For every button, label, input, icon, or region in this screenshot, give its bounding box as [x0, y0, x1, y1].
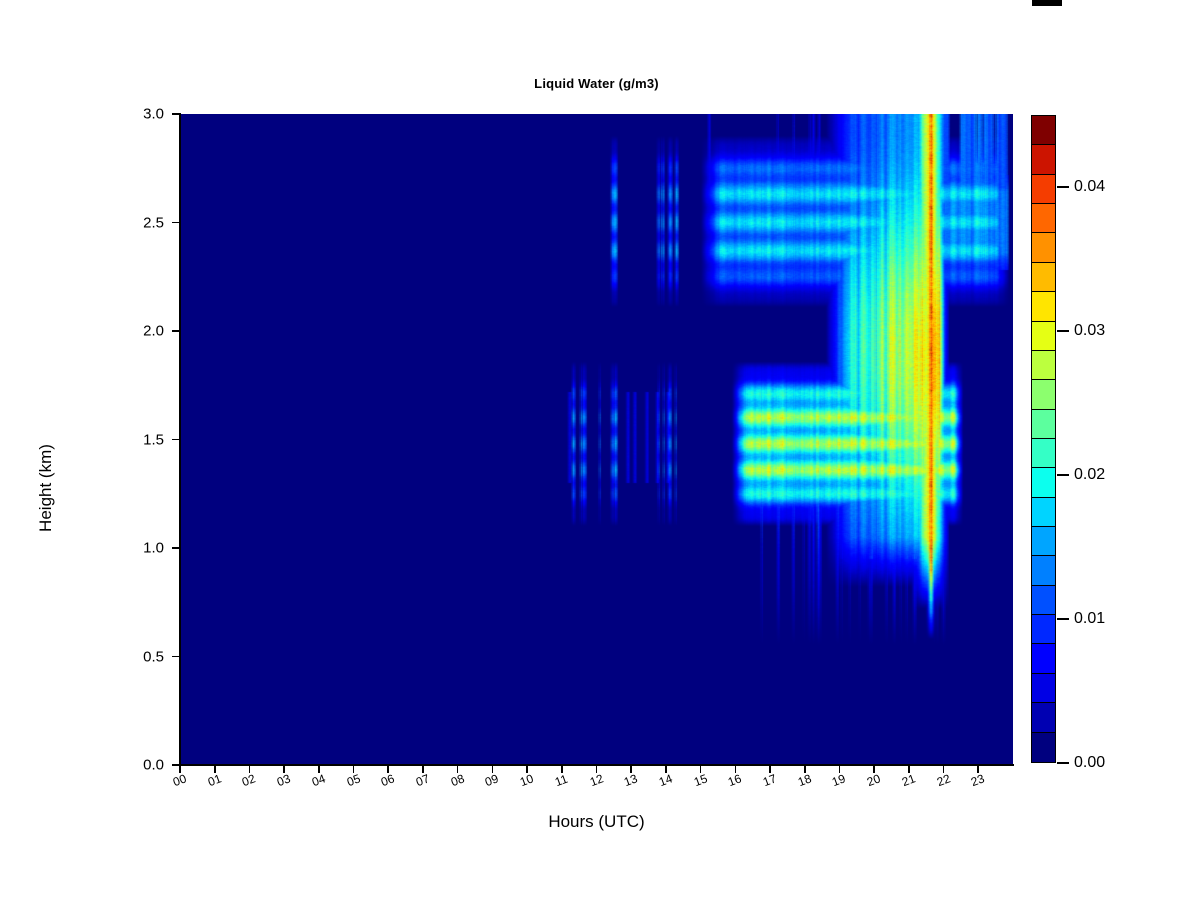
colorbar-tick: [1057, 618, 1069, 620]
y-tick-label: 0.5: [118, 648, 164, 665]
x-tick-label: 07: [414, 771, 431, 789]
colorbar-band: [1032, 410, 1055, 439]
y-tick-label: 0.0: [118, 757, 164, 774]
y-tick-label: 3.0: [118, 106, 164, 123]
x-tick-label: 17: [761, 771, 778, 789]
colorbar-band: [1032, 204, 1055, 233]
x-axis-title: Hours (UTC): [180, 812, 1013, 832]
x-tick-label: 08: [449, 771, 466, 789]
colorbar-band: [1032, 263, 1055, 292]
y-tick: [172, 222, 179, 224]
colorbar-band: [1032, 644, 1055, 673]
x-tick-label: 16: [726, 771, 743, 789]
colorbar-band: [1032, 674, 1055, 703]
y-tick: [172, 113, 179, 115]
x-tick-label: 10: [518, 771, 535, 789]
x-tick-label: 13: [622, 771, 639, 789]
y-tick: [172, 330, 179, 332]
x-tick-label: 18: [796, 771, 813, 789]
top-edge-artifact: [1032, 0, 1062, 6]
colorbar-band: [1032, 556, 1055, 585]
heatmap-canvas-wrapper: [180, 114, 1013, 765]
x-tick-label: 14: [657, 771, 674, 789]
colorbar-tick-label: 0.01: [1074, 610, 1105, 628]
x-tick-label: 11: [553, 772, 570, 789]
colorbar-band: [1032, 527, 1055, 556]
y-tick-label: 2.0: [118, 323, 164, 340]
colorbar-tick-label: 0.02: [1074, 466, 1105, 484]
x-tick-label: 00: [171, 771, 188, 789]
figure-root: Liquid Water (g/m3) 0.00.51.01.52.02.53.…: [0, 0, 1200, 900]
colorbar-tick-label: 0.04: [1074, 178, 1105, 196]
colorbar-tick: [1057, 186, 1069, 188]
colorbar-band: [1032, 322, 1055, 351]
x-tick-label: 20: [865, 771, 882, 789]
colorbar-tick: [1057, 474, 1069, 476]
y-axis-title: Height (km): [36, 408, 56, 568]
colorbar-tick: [1057, 762, 1069, 764]
colorbar-band: [1032, 439, 1055, 468]
y-axis-line: [179, 113, 181, 766]
y-tick: [172, 547, 179, 549]
colorbar-band: [1032, 468, 1055, 497]
x-tick-label: 02: [240, 771, 257, 789]
x-tick-label: 23: [969, 771, 986, 789]
x-tick-label: 05: [345, 771, 362, 789]
colorbar-tick-label: 0.03: [1074, 322, 1105, 340]
heatmap-plot-area: [180, 114, 1013, 765]
x-tick-label: 03: [275, 771, 292, 789]
x-tick-label: 19: [830, 771, 847, 789]
colorbar: [1031, 115, 1056, 763]
x-tick-label: 15: [692, 771, 709, 789]
colorbar-band: [1032, 498, 1055, 527]
y-tick-label: 1.0: [118, 540, 164, 557]
y-tick: [172, 439, 179, 441]
colorbar-band: [1032, 145, 1055, 174]
colorbar-tick-label: 0.00: [1074, 754, 1105, 772]
colorbar-band: [1032, 175, 1055, 204]
x-tick-label: 09: [483, 771, 500, 789]
colorbar-band: [1032, 703, 1055, 732]
colorbar-band: [1032, 615, 1055, 644]
colorbar-band: [1032, 233, 1055, 262]
colorbar-band: [1032, 586, 1055, 615]
x-tick-label: 21: [900, 771, 917, 789]
x-tick-label: 04: [310, 771, 327, 789]
colorbar-band: [1032, 380, 1055, 409]
colorbar-band: [1032, 351, 1055, 380]
x-tick-label: 12: [588, 771, 605, 789]
y-tick-label: 1.5: [118, 431, 164, 448]
x-tick-label: 22: [935, 771, 952, 789]
colorbar-band: [1032, 116, 1055, 145]
y-tick: [172, 656, 179, 658]
colorbar-tick: [1057, 330, 1069, 332]
colorbar-band: [1032, 733, 1055, 762]
y-tick-label: 2.5: [118, 214, 164, 231]
y-tick: [172, 764, 179, 766]
page-title: Liquid Water (g/m3): [180, 76, 1013, 91]
x-tick-label: 06: [379, 771, 396, 789]
x-tick-label: 01: [206, 771, 223, 789]
colorbar-band: [1032, 292, 1055, 321]
heatmap-image: [180, 114, 1013, 765]
y-axis-tick-labels: 0.00.51.01.52.02.53.0: [118, 0, 164, 900]
